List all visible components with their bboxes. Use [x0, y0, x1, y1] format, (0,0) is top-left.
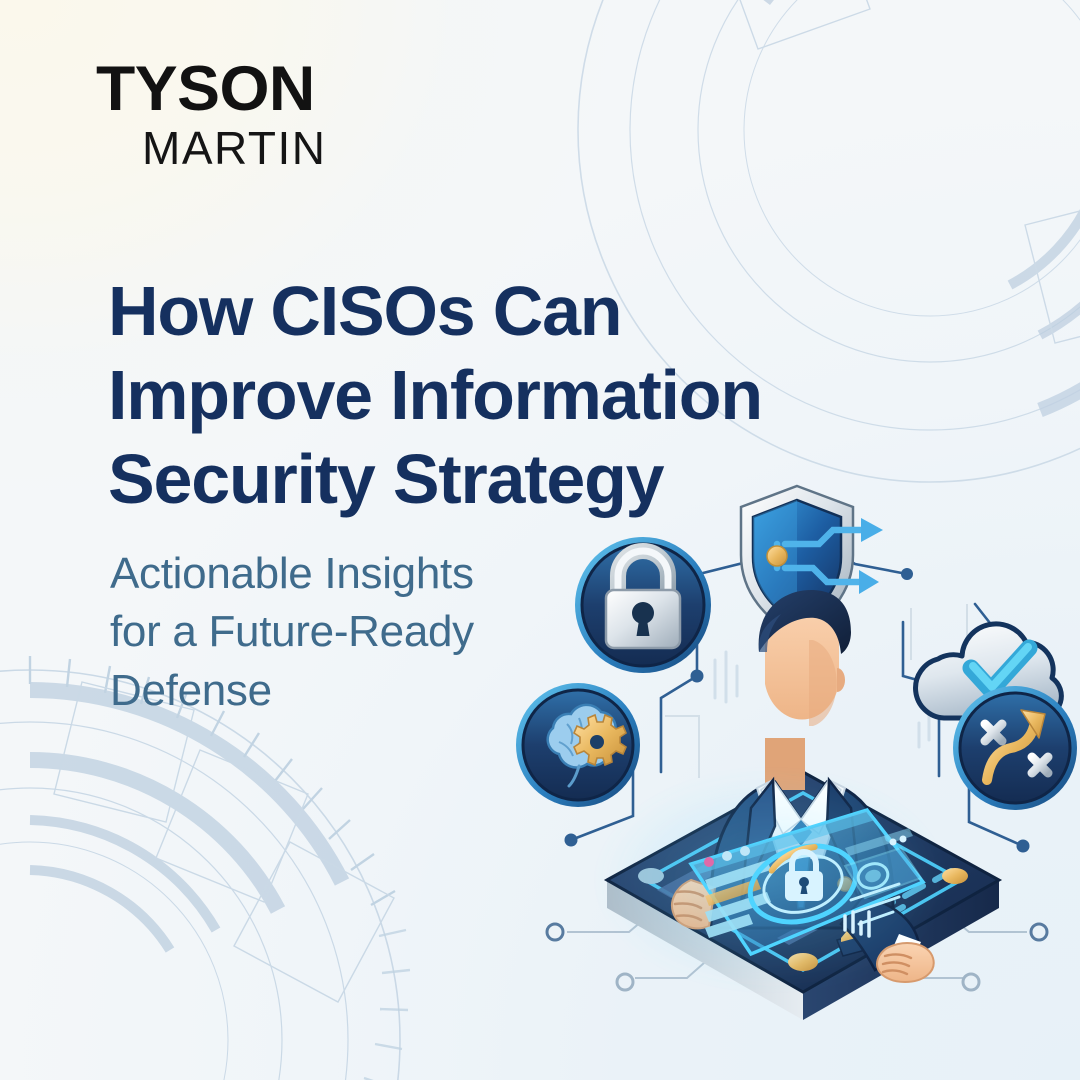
padlock-icon	[575, 537, 711, 673]
subtitle-line-2: for a Future-Ready	[110, 603, 580, 662]
shield-arrow-2	[859, 570, 879, 594]
brand-logo-secondary: MARTIN	[142, 125, 327, 171]
headline-line-2: Improve Information	[108, 353, 928, 437]
brand-logo: TYSON MARTIN	[96, 58, 327, 171]
holographic-dashboard	[596, 770, 946, 990]
subtitle-line-3: Defense	[110, 662, 580, 721]
subtitle-line-1: Actionable Insights	[110, 545, 580, 604]
brain-gear-icon	[516, 683, 640, 807]
hologram-dot-1	[704, 857, 714, 867]
shield-arrow-1	[861, 518, 883, 542]
security-strategy-illustration	[515, 480, 1080, 1080]
brand-logo-primary: TYSON	[96, 58, 331, 121]
headline-line-1: How CISOs Can	[108, 269, 928, 353]
hologram-dot-3	[740, 846, 750, 856]
strategy-arrow-icon	[953, 686, 1077, 810]
page-subtitle: Actionable Insights for a Future-Ready D…	[110, 545, 580, 721]
hologram-dot-2	[722, 851, 732, 861]
social-post-canvas: TYSON MARTIN How CISOs Can Improve Infor…	[0, 0, 1080, 1080]
